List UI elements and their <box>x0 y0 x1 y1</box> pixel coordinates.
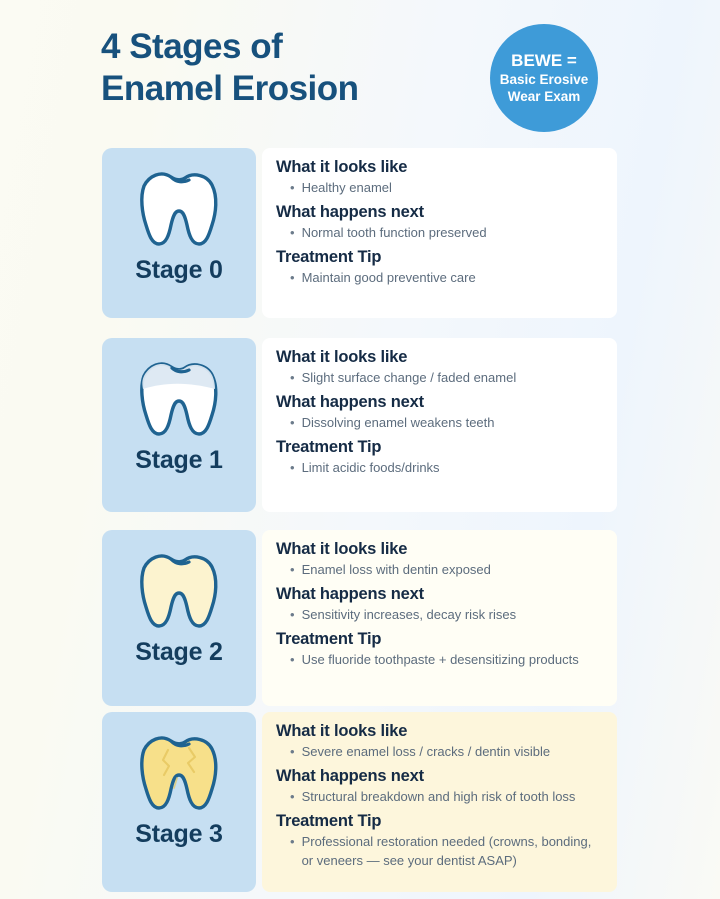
heading-happens-next: What happens next <box>276 393 603 412</box>
page-title: 4 Stages of Enamel Erosion <box>101 26 481 110</box>
list-item: • Maintain good preventive care <box>290 268 603 287</box>
bewe-abbreviation: BEWE = <box>511 52 577 69</box>
stage-card: Stage 1 What it looks like • Slight surf… <box>102 338 617 512</box>
stage-3-content-panel: What it looks like • Severe enamel loss … <box>262 712 617 892</box>
list-item: • Enamel loss with dentin exposed <box>290 560 603 579</box>
looks-like-text: Healthy enamel <box>302 178 392 197</box>
list-item: • Structural breakdown and high risk of … <box>290 787 603 806</box>
stage-card: Stage 3 What it looks like • Severe enam… <box>102 712 617 892</box>
treatment-tip-text: Maintain good preventive care <box>302 268 476 287</box>
page-title-line-2: Enamel Erosion <box>101 68 481 110</box>
list-item: • Professional restoration needed (crown… <box>290 832 603 870</box>
happens-next-text: Structural breakdown and high risk of to… <box>302 787 576 806</box>
stage-2-tooth-tile: Stage 2 <box>102 530 256 706</box>
bullet-icon: • <box>290 268 295 287</box>
bullet-icon: • <box>290 650 295 669</box>
stage-card: Stage 2 What it looks like • Enamel loss… <box>102 530 617 706</box>
stage-3-tooth-tile: Stage 3 <box>102 712 256 892</box>
heading-happens-next: What happens next <box>276 585 603 604</box>
list-item: • Healthy enamel <box>290 178 603 197</box>
stage-label: Stage 0 <box>135 256 223 285</box>
list-item: • Normal tooth function preserved <box>290 223 603 242</box>
heading-treatment-tip: Treatment Tip <box>276 630 603 649</box>
heading-happens-next: What happens next <box>276 767 603 786</box>
happens-next-text: Normal tooth function preserved <box>302 223 487 242</box>
list-item: • Slight surface change / faded enamel <box>290 368 603 387</box>
looks-like-text: Slight surface change / faded enamel <box>302 368 517 387</box>
happens-next-text: Dissolving enamel weakens teeth <box>302 413 495 432</box>
looks-like-text: Severe enamel loss / cracks / dentin vis… <box>302 742 551 761</box>
heading-happens-next: What happens next <box>276 203 603 222</box>
bullet-icon: • <box>290 832 295 851</box>
stage-1-content-panel: What it looks like • Slight surface chan… <box>262 338 617 512</box>
tooth-icon <box>127 538 231 636</box>
tooth-icon <box>127 346 231 444</box>
heading-treatment-tip: Treatment Tip <box>276 812 603 831</box>
bewe-badge: BEWE = Basic Erosive Wear Exam <box>490 24 598 132</box>
bullet-icon: • <box>290 787 295 806</box>
list-item: • Severe enamel loss / cracks / dentin v… <box>290 742 603 761</box>
bullet-icon: • <box>290 458 295 477</box>
stage-0-tooth-tile: Stage 0 <box>102 148 256 318</box>
looks-like-text: Enamel loss with dentin exposed <box>302 560 491 579</box>
heading-looks-like: What it looks like <box>276 158 603 177</box>
stage-0-content-panel: What it looks like • Healthy enamel What… <box>262 148 617 318</box>
tooth-icon <box>127 156 231 254</box>
bullet-icon: • <box>290 178 295 197</box>
list-item: • Sensitivity increases, decay risk rise… <box>290 605 603 624</box>
bullet-icon: • <box>290 560 295 579</box>
treatment-tip-text: Professional restoration needed (crowns,… <box>302 832 603 870</box>
list-item: • Limit acidic foods/drinks <box>290 458 603 477</box>
stage-label: Stage 3 <box>135 820 223 849</box>
heading-looks-like: What it looks like <box>276 722 603 741</box>
tooth-icon <box>127 720 231 818</box>
bullet-icon: • <box>290 605 295 624</box>
bullet-icon: • <box>290 742 295 761</box>
heading-looks-like: What it looks like <box>276 348 603 367</box>
page-title-line-1: 4 Stages of <box>101 26 481 68</box>
bewe-expansion: Basic Erosive Wear Exam <box>490 71 598 105</box>
stage-label: Stage 1 <box>135 446 223 475</box>
bullet-icon: • <box>290 413 295 432</box>
bullet-icon: • <box>290 368 295 387</box>
stage-card: Stage 0 What it looks like • Healthy ena… <box>102 148 617 318</box>
heading-treatment-tip: Treatment Tip <box>276 438 603 457</box>
treatment-tip-text: Limit acidic foods/drinks <box>302 458 440 477</box>
list-item: • Dissolving enamel weakens teeth <box>290 413 603 432</box>
stage-2-content-panel: What it looks like • Enamel loss with de… <box>262 530 617 706</box>
infographic-header: 4 Stages of Enamel Erosion BEWE = Basic … <box>0 0 720 148</box>
heading-treatment-tip: Treatment Tip <box>276 248 603 267</box>
bullet-icon: • <box>290 223 295 242</box>
treatment-tip-text: Use fluoride toothpaste + desensitizing … <box>302 650 579 669</box>
stage-label: Stage 2 <box>135 638 223 667</box>
happens-next-text: Sensitivity increases, decay risk rises <box>302 605 517 624</box>
heading-looks-like: What it looks like <box>276 540 603 559</box>
stage-1-tooth-tile: Stage 1 <box>102 338 256 512</box>
list-item: • Use fluoride toothpaste + desensitizin… <box>290 650 603 669</box>
